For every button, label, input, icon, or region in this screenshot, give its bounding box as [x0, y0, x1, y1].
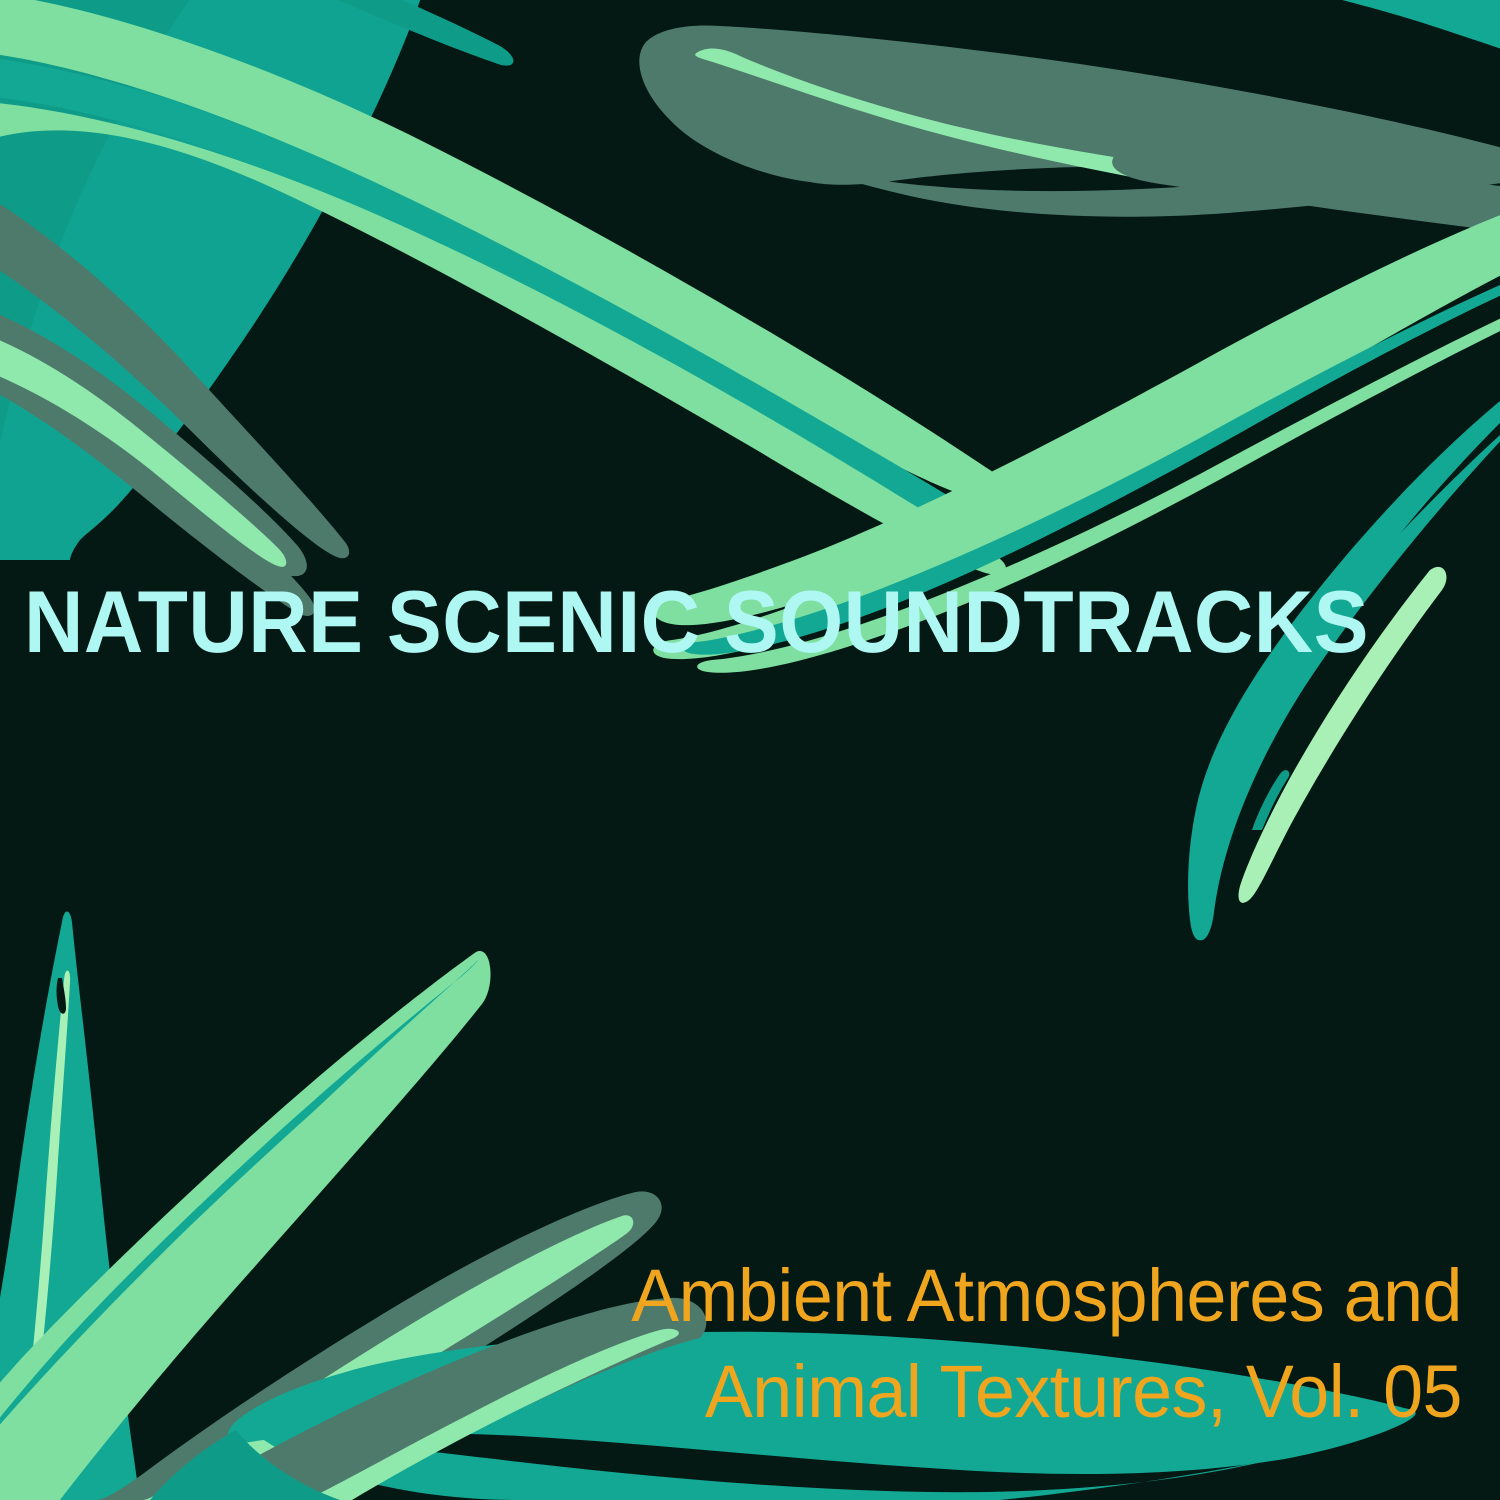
album-cover: NATURE SCENIC SOUNDTRACKS Ambient Atmosp… [0, 0, 1500, 1500]
leaf-artwork [0, 0, 1500, 1500]
